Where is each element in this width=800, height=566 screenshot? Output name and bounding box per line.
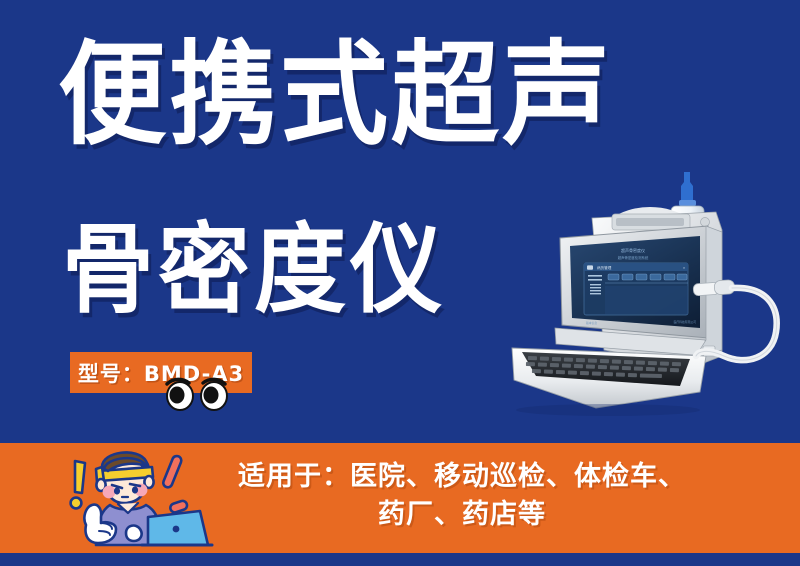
device-image: 超声骨密度仪 超声骨密度检测系统 病历管理 × [500, 160, 800, 420]
banner-text: 适用于：医院、移动巡检、体检车、 药厂、药店等 [228, 458, 696, 534]
banner-line-2: 药厂、药店等 [228, 496, 696, 534]
mascot-illustration [52, 441, 232, 559]
svg-text:版本信息: 版本信息 [586, 321, 597, 325]
title-line-1: 便携式超声 [58, 38, 613, 154]
exclamation-yellow-icon [71, 461, 85, 508]
banner-line-1: 适用于：医院、移动巡检、体检车、 [228, 458, 696, 496]
peeking-eyes-icon [163, 376, 233, 412]
display-panel: 超声骨密度仪 超声骨密度检测系统 病历管理 × [560, 226, 708, 338]
svg-text:医疗科技有限公司: 医疗科技有限公司 [674, 320, 697, 324]
poster-canvas: 便携式超声 骨密度仪 型号：BMD-A3 [0, 0, 800, 566]
svg-text:病历管理: 病历管理 [597, 265, 612, 270]
title-line-2: 骨密度仪 [62, 220, 446, 322]
svg-text:超声骨密度检测系统: 超声骨密度检测系统 [618, 255, 649, 260]
svg-text:超声骨密度仪: 超声骨密度仪 [621, 247, 645, 253]
